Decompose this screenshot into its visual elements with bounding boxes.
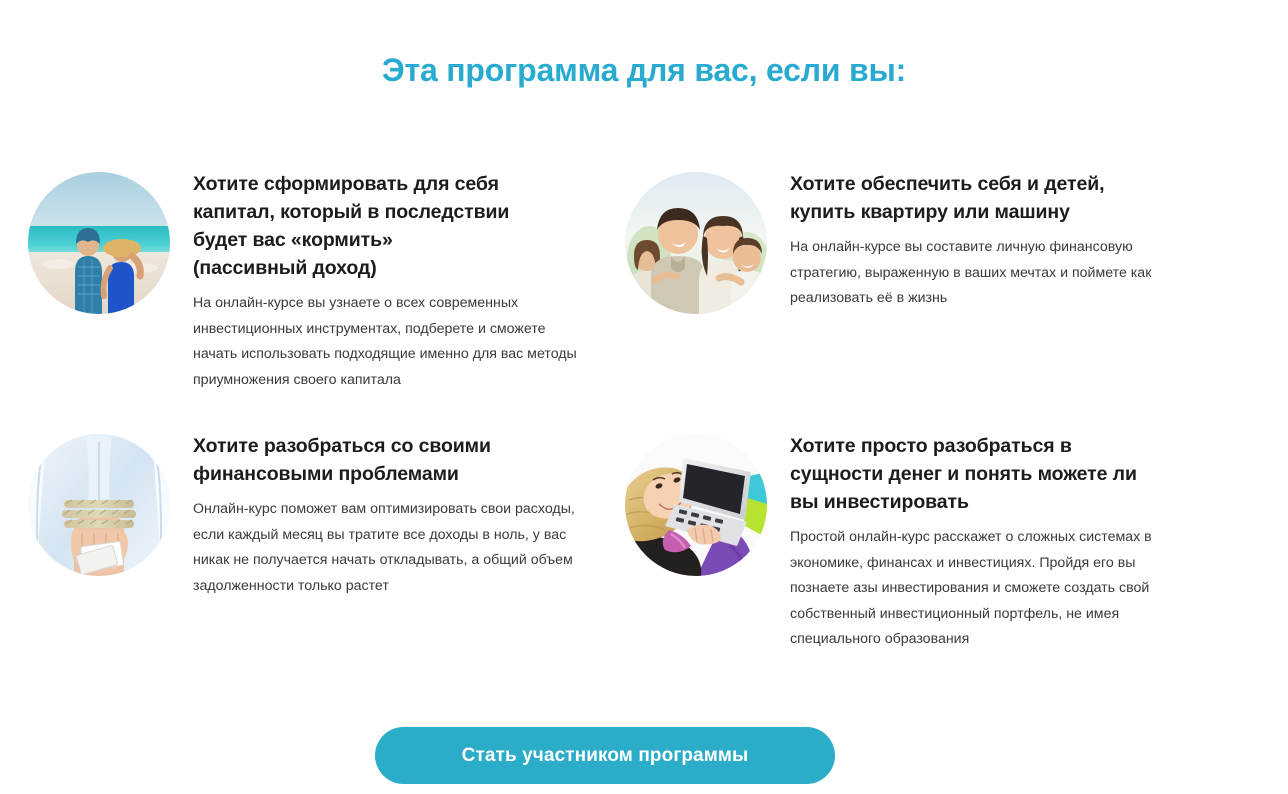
benefit-heading-2: Хотите обеспечить себя и детей, купить к…	[790, 170, 1200, 226]
benefit-text-4: Хотите просто разобраться в сущности ден…	[767, 422, 1200, 653]
hands-tied-with-rope-holding-cards-photo	[28, 434, 170, 576]
benefits-row-1: Хотите сформировать для себя капитал, ко…	[0, 160, 1288, 422]
benefit-body-4: Простой онлайн-курс расскажет о сложных …	[790, 525, 1190, 653]
benefit-text-2: Хотите обеспечить себя и детей, купить к…	[767, 160, 1200, 312]
benefit-body-2: На онлайн-курсе вы составите личную фина…	[790, 235, 1190, 312]
couple-on-beach-photo	[28, 172, 170, 314]
section-title: Эта программа для вас, если вы:	[0, 52, 1288, 89]
benefit-heading-4: Хотите просто разобраться в сущности ден…	[790, 432, 1200, 516]
benefit-heading-1: Хотите сформировать для себя капитал, ко…	[193, 170, 600, 282]
benefits-row-2: Хотите разобраться со своими финансовыми…	[0, 422, 1288, 653]
benefit-card-1: Хотите сформировать для себя капитал, ко…	[0, 160, 600, 393]
benefit-text-3: Хотите разобраться со своими финансовыми…	[170, 422, 600, 599]
benefit-card-3: Хотите разобраться со своими финансовыми…	[0, 422, 600, 599]
benefit-body-3: Онлайн-курс поможет вам оптимизировать с…	[193, 497, 593, 599]
join-program-button[interactable]: Стать участником программы	[375, 727, 835, 784]
family-of-four-photo	[625, 172, 767, 314]
benefit-heading-3: Хотите разобраться со своими финансовыми…	[193, 432, 600, 488]
benefits-grid: Хотите сформировать для себя капитал, ко…	[0, 160, 1288, 653]
benefit-text-1: Хотите сформировать для себя капитал, ко…	[170, 160, 600, 393]
landing-benefits-section: Эта программа для вас, если вы:	[0, 0, 1288, 794]
woman-with-laptop-photo	[625, 434, 767, 576]
benefit-card-2: Хотите обеспечить себя и детей, купить к…	[600, 160, 1200, 314]
benefit-card-4: Хотите просто разобраться в сущности ден…	[600, 422, 1200, 653]
benefit-body-1: На онлайн-курсе вы узнаете о всех соврем…	[193, 291, 593, 393]
